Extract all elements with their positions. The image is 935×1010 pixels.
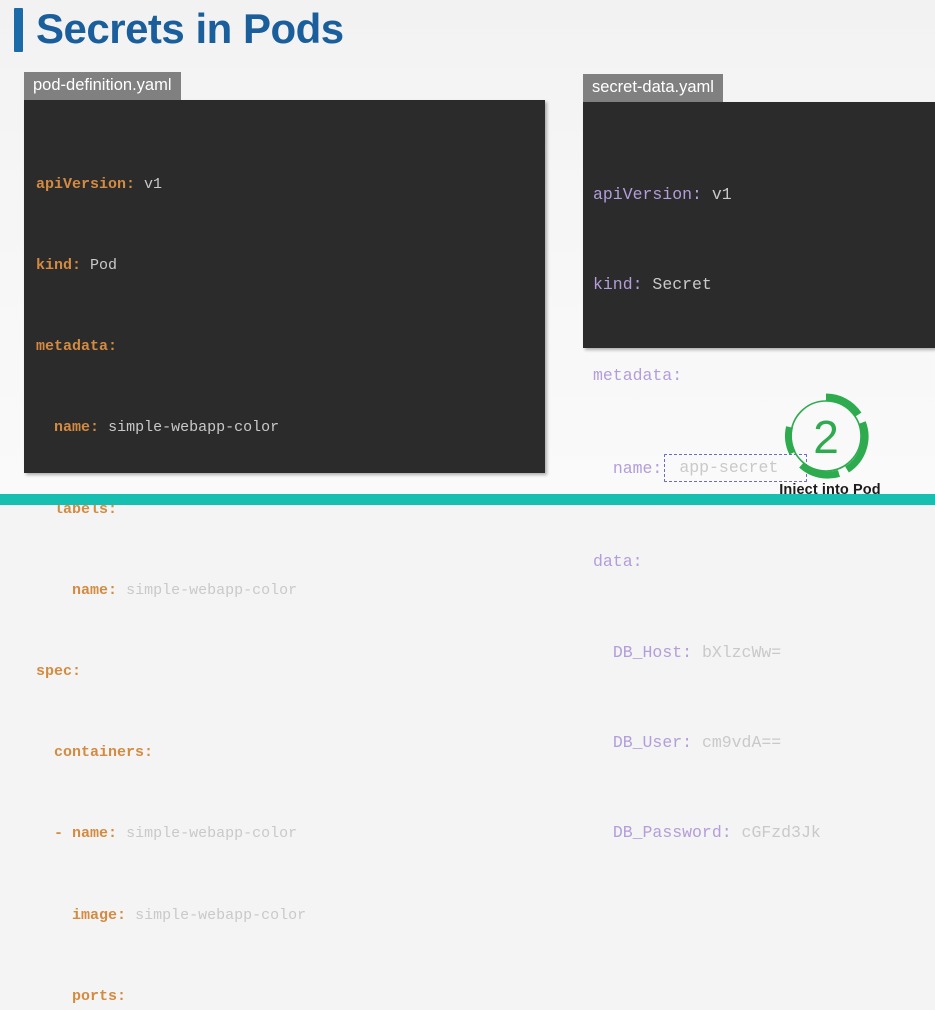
colon: : — [72, 257, 81, 274]
yaml-value: simple-webapp-color — [135, 907, 306, 924]
colon: : — [72, 663, 81, 680]
indent — [36, 744, 54, 761]
secret-data-panel: secret-data.yaml apiVersion: v1 kind: Se… — [583, 74, 935, 348]
space — [117, 582, 126, 599]
colon: : — [672, 366, 682, 385]
space — [99, 419, 108, 436]
space — [732, 823, 742, 842]
yaml-value: simple-webapp-color — [126, 582, 297, 599]
indent — [36, 582, 72, 599]
space — [117, 825, 126, 842]
colon: : — [682, 733, 692, 752]
yaml-value: Secret — [652, 275, 711, 294]
code-line: name:app-secret — [583, 455, 935, 484]
page-title-text: Secrets in Pods — [36, 8, 344, 50]
code-line: metadata: — [583, 365, 935, 388]
code-line: apiVersion: v1 — [583, 184, 935, 207]
yaml-key: containers — [54, 744, 144, 761]
code-line: apiVersion: v1 — [24, 175, 545, 195]
yaml-key: apiVersion — [593, 185, 692, 204]
yaml-value: cGFzd3Jk — [742, 823, 821, 842]
colon: : — [633, 552, 643, 571]
yaml-key: kind — [593, 275, 633, 294]
yaml-value: simple-webapp-color — [126, 825, 297, 842]
indent — [36, 907, 72, 924]
yaml-key: metadata — [593, 366, 672, 385]
yaml-key: kind — [36, 257, 72, 274]
space — [692, 643, 702, 662]
indent — [36, 825, 54, 842]
colon: : — [633, 275, 643, 294]
pod-definition-code-block: apiVersion: v1 kind: Pod metadata: name:… — [24, 100, 545, 473]
indent — [593, 823, 613, 842]
indent — [36, 419, 54, 436]
indent — [593, 733, 613, 752]
yaml-value — [135, 176, 144, 193]
colon: : — [722, 823, 732, 842]
colon: : — [117, 907, 126, 924]
colon: : — [144, 744, 153, 761]
indent — [593, 459, 613, 478]
code-line: containers: — [24, 743, 545, 763]
code-line: image: simple-webapp-color — [24, 906, 545, 926]
yaml-key: name — [54, 419, 90, 436]
space — [702, 185, 712, 204]
pod-definition-panel: pod-definition.yaml apiVersion: v1 kind:… — [24, 72, 545, 473]
yaml-value: cm9vdA== — [702, 733, 781, 752]
yaml-key: image — [72, 907, 117, 924]
yaml-key: apiVersion — [36, 176, 126, 193]
code-line: metadata: — [24, 337, 545, 357]
space — [126, 907, 135, 924]
colon: : — [108, 825, 117, 842]
colon: : — [692, 185, 702, 204]
title-accent-bar — [14, 8, 23, 52]
code-line: name: simple-webapp-color — [24, 581, 545, 601]
colon: : — [126, 176, 135, 193]
secret-data-code-block: apiVersion: v1 kind: Secret metadata: na… — [583, 102, 935, 348]
yaml-value: bXlzcWw= — [702, 643, 781, 662]
yaml-key: spec — [36, 663, 72, 680]
code-line: data: — [583, 551, 935, 574]
code-line: spec: — [24, 662, 545, 682]
space — [692, 733, 702, 752]
yaml-key: ports — [72, 988, 117, 1005]
indent — [36, 988, 72, 1005]
ring-segment-4 — [788, 427, 792, 453]
code-line: DB_Host: bXlzcWw= — [583, 642, 935, 665]
yaml-key: DB_Host — [613, 643, 682, 662]
page-title: Secrets in Pods — [14, 6, 344, 52]
yaml-value: simple-webapp-color — [108, 419, 279, 436]
step-ring-icon: 2 — [779, 389, 873, 483]
code-line: DB_Password: cGFzd3Jk — [583, 822, 935, 845]
bottom-accent-bar — [0, 494, 935, 505]
colon: : — [90, 419, 99, 436]
step-number: 2 — [813, 411, 839, 463]
code-line: kind: Pod — [24, 256, 545, 276]
space — [81, 257, 90, 274]
yaml-key: DB_User — [613, 733, 682, 752]
code-line: ports: — [24, 987, 545, 1007]
code-line: name: simple-webapp-color — [24, 418, 545, 438]
code-line: DB_User: cm9vdA== — [583, 732, 935, 755]
yaml-value: Pod — [90, 257, 117, 274]
yaml-value: app-secret — [679, 458, 778, 477]
code-line: kind: Secret — [583, 274, 935, 297]
yaml-key: metadata — [36, 338, 108, 355]
colon: : — [682, 643, 692, 662]
yaml-value: v1 — [144, 176, 162, 193]
step-badge: 2 — [779, 389, 873, 483]
secret-data-tab-label: secret-data.yaml — [583, 74, 723, 102]
slide-background: Secrets in Pods pod-definition.yaml apiV… — [0, 0, 935, 505]
colon: : — [108, 338, 117, 355]
indent — [593, 643, 613, 662]
yaml-key: - name — [54, 825, 108, 842]
yaml-key: name — [72, 582, 108, 599]
space — [643, 275, 653, 294]
colon: : — [117, 988, 126, 1005]
yaml-key: DB_Password — [613, 823, 722, 842]
colon: : — [652, 459, 662, 478]
yaml-key: data — [593, 552, 633, 571]
yaml-key: name — [613, 459, 653, 478]
code-line: - name: simple-webapp-color — [24, 824, 545, 844]
colon: : — [108, 582, 117, 599]
yaml-value: v1 — [712, 185, 732, 204]
pod-definition-tab-label: pod-definition.yaml — [24, 72, 181, 100]
